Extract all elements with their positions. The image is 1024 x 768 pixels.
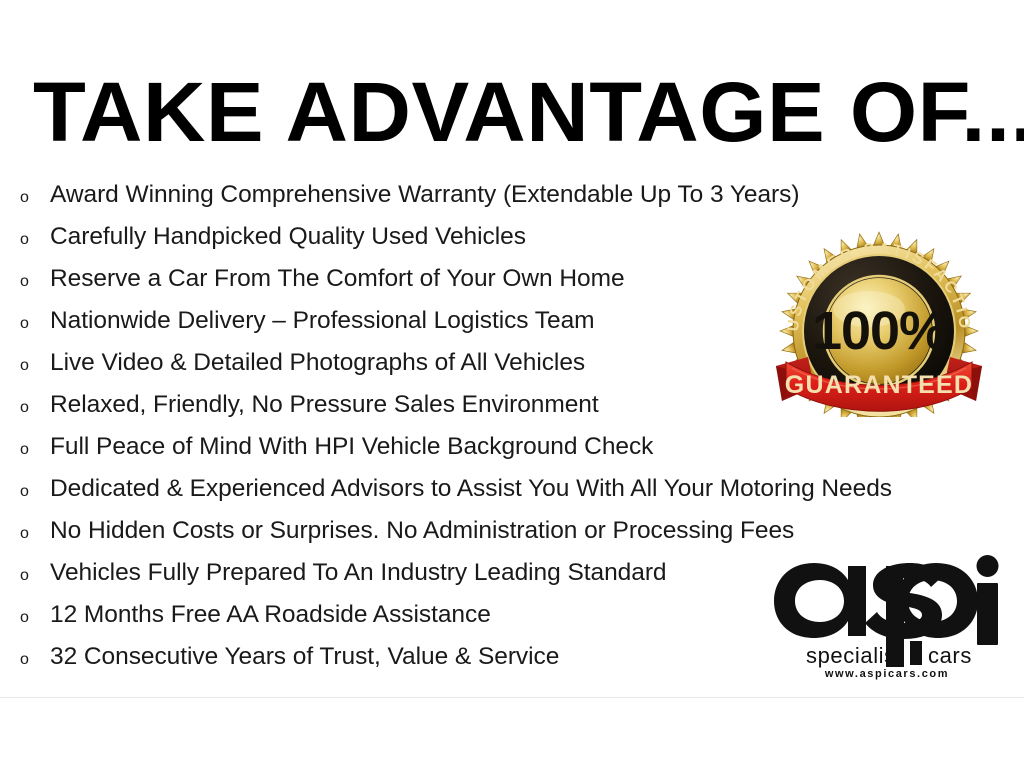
logo-website: www.aspicars.com (824, 668, 949, 680)
bullet-circle-icon: o (14, 555, 50, 597)
bullet-circle-icon: o (14, 597, 50, 639)
page-title: TAKE ADVANTAGE OF... (33, 73, 1012, 151)
customer-satisfaction-guaranteed-badge: CUSTOMER SATISFACTION 100% GUARANTEED (768, 231, 990, 417)
list-item-label: Dedicated & Experienced Advisors to Assi… (50, 468, 974, 510)
bullet-circle-icon: o (14, 261, 50, 303)
badge-ribbon-text: GUARANTEED (785, 371, 973, 399)
bullet-circle-icon: o (14, 429, 50, 471)
list-item-label: Full Peace of Mind With HPI Vehicle Back… (50, 426, 974, 468)
bullet-circle-icon: o (14, 219, 50, 261)
logo-tagline-right: cars (928, 643, 972, 668)
bullet-circle-icon: o (14, 387, 50, 429)
bullet-circle-icon: o (14, 471, 50, 513)
aspi-logo[interactable]: specialist cars www.aspicars.com (770, 537, 1005, 682)
list-item: o Full Peace of Mind With HPI Vehicle Ba… (14, 426, 974, 468)
slide-canvas: TAKE ADVANTAGE OF... o Award Winning Com… (0, 0, 1024, 768)
bullet-circle-icon: o (14, 177, 50, 219)
bullet-circle-icon: o (14, 639, 50, 681)
bullet-circle-icon: o (14, 345, 50, 387)
logo-separator-block (910, 641, 922, 665)
bullet-circle-icon: o (14, 303, 50, 345)
list-item: o Award Winning Comprehensive Warranty (… (14, 174, 974, 216)
list-item: o Dedicated & Experienced Advisors to As… (14, 468, 974, 510)
logo-tagline-left: specialist (806, 643, 902, 668)
badge-percent-text: 100% (812, 301, 946, 361)
bullet-circle-icon: o (14, 513, 50, 555)
list-item-label: Award Winning Comprehensive Warranty (Ex… (50, 174, 974, 216)
footer-divider (0, 697, 1024, 698)
